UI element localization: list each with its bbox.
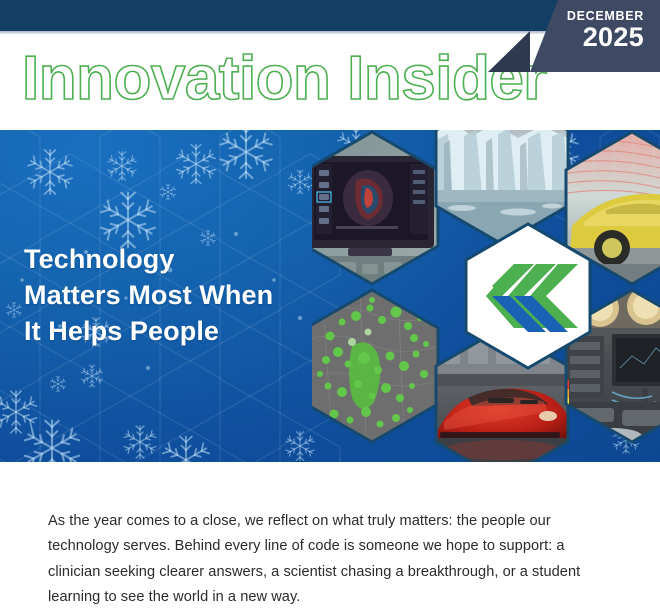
intro-paragraph: As the year comes to a close, we reflect… xyxy=(48,509,600,611)
hero-headline-line-2: Matters Most When xyxy=(24,277,273,313)
hero-headline: Technology Matters Most When It Helps Pe… xyxy=(24,241,273,349)
kitware-k-logo-icon xyxy=(462,222,594,370)
green-point-cloud-photo xyxy=(312,285,452,450)
masthead-title: Innovation Insider xyxy=(22,42,547,116)
date-badge-notch xyxy=(500,0,530,31)
newsletter-page: kitware DECEMBER 2025 Innovation Insider xyxy=(0,0,660,602)
body-section: As the year comes to a close, we reflect… xyxy=(0,462,660,602)
hero-headline-line-1: Technology xyxy=(24,241,273,277)
snowflake-group-top xyxy=(28,130,311,247)
hero-headline-line-3: It Helps People xyxy=(24,313,273,349)
